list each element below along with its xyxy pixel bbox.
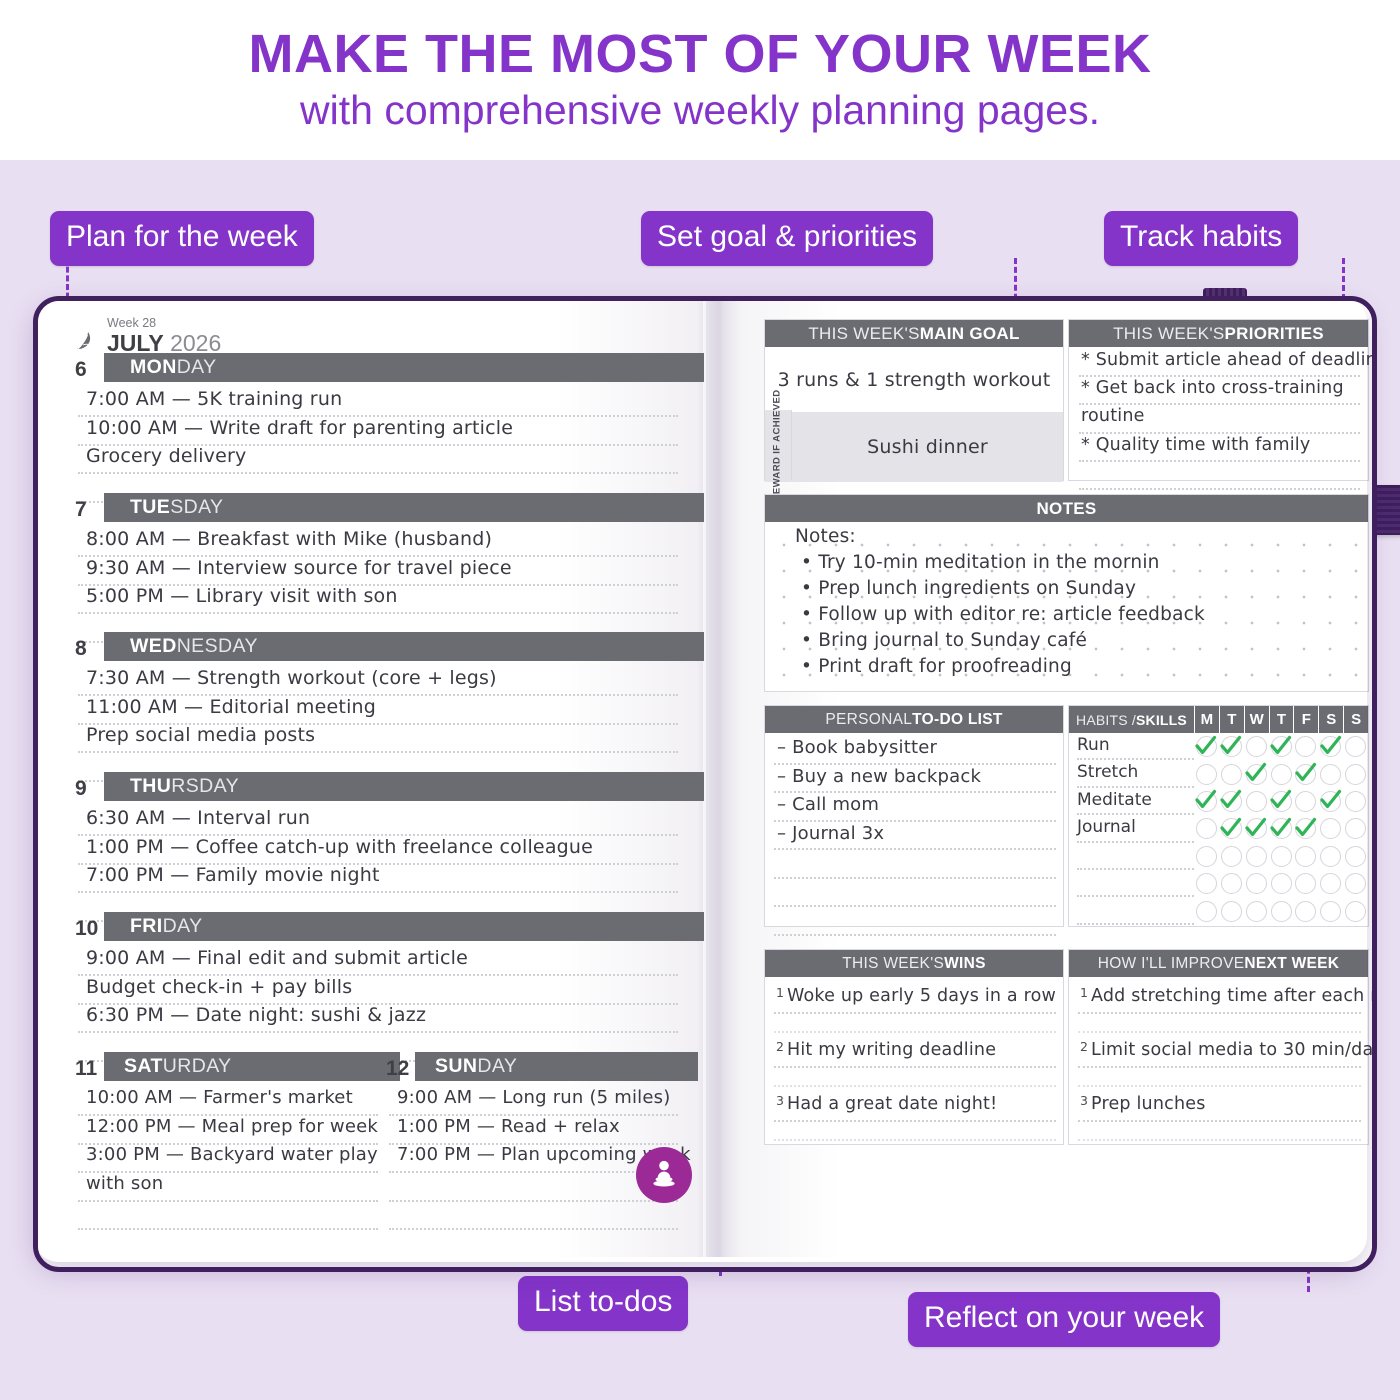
- priority-text: * Submit article ahead of deadline: [1081, 350, 1377, 370]
- day-entry: Prep social media posts: [86, 724, 315, 746]
- day-abbr: SUN: [435, 1055, 477, 1078]
- habit-circle-icon: [1295, 873, 1316, 894]
- habit-label: Meditate: [1077, 788, 1194, 816]
- habit-circle-icon: [1271, 764, 1292, 785]
- habit-circle-icon: [1246, 846, 1267, 867]
- habit-checkbox[interactable]: [1219, 901, 1244, 922]
- wins-header-light: THIS WEEK'S: [842, 955, 944, 973]
- todo-text: – Book babysitter: [777, 737, 937, 758]
- todo-line[interactable]: – Book babysitter: [774, 736, 1056, 765]
- habit-checkbox[interactable]: [1269, 846, 1294, 867]
- improve-panel: HOW I'LL IMPROVE NEXT WEEK 1Add stretchi…: [1068, 949, 1369, 1145]
- habit-checkbox[interactable]: [1293, 901, 1318, 922]
- habit-day-column-1: T: [1219, 706, 1244, 733]
- main-goal-header-light: THIS WEEK'S: [808, 324, 919, 344]
- habit-checkbox[interactable]: [1318, 764, 1343, 785]
- note-line: • Follow up with editor re: article feed…: [801, 604, 1205, 625]
- habit-checkbox[interactable]: [1293, 791, 1318, 812]
- priority-line[interactable]: * Get back into cross-training: [1079, 377, 1360, 405]
- month-label: JULY: [107, 330, 164, 356]
- priority-line[interactable]: * Submit article ahead of deadline: [1079, 349, 1360, 377]
- improve-text: Limit social media to 30 min/day: [1091, 1040, 1377, 1060]
- todo-line[interactable]: [774, 879, 1056, 908]
- habit-circle-icon: [1196, 818, 1217, 839]
- habit-circle-icon: [1320, 846, 1341, 867]
- priority-line[interactable]: * Quality time with family: [1079, 434, 1360, 462]
- wins-panel: THIS WEEK'S WINS 1Woke up early 5 days i…: [764, 949, 1064, 1145]
- notes-header-bold: NOTES: [1036, 499, 1096, 519]
- habit-day-column-5: S: [1318, 706, 1343, 733]
- habit-label-cell[interactable]: [1069, 897, 1194, 924]
- habit-checkbox[interactable]: [1269, 901, 1294, 922]
- habit-circle-icon: [1320, 901, 1341, 922]
- habit-checkbox[interactable]: [1219, 791, 1244, 812]
- win-item[interactable]: 2Hit my writing deadline: [774, 1033, 1056, 1087]
- habit-checkbox[interactable]: [1293, 873, 1318, 894]
- month-year-label: JULY 2026: [107, 332, 221, 355]
- habit-circle-icon: [1221, 846, 1242, 867]
- entry-line[interactable]: [78, 1200, 378, 1230]
- habit-checkbox[interactable]: [1194, 873, 1219, 894]
- habit-checkbox[interactable]: [1269, 873, 1294, 894]
- habit-circle-icon: [1295, 736, 1316, 757]
- win-line: [774, 1066, 1056, 1068]
- checkmark-icon: [1243, 815, 1269, 841]
- win-item[interactable]: 1Woke up early 5 days in a row: [774, 979, 1056, 1033]
- habit-checkbox[interactable]: [1244, 736, 1269, 757]
- improve-number: 1: [1080, 985, 1088, 1000]
- habit-checkbox[interactable]: [1343, 901, 1368, 922]
- improve-line: [1078, 1066, 1361, 1068]
- main-goal-value: 3 runs & 1 strength workout: [778, 369, 1051, 391]
- habit-circle-icon: [1271, 846, 1292, 867]
- improve-line-blank: [1078, 1139, 1361, 1141]
- win-item[interactable]: 3Had a great date night!: [774, 1087, 1056, 1141]
- win-number: 3: [776, 1093, 784, 1108]
- habit-row: Stretch: [1069, 760, 1368, 787]
- day-header-bar: THURSDAY: [104, 772, 704, 801]
- habit-circle-icon: [1345, 846, 1366, 867]
- priorities-panel: THIS WEEK'S PRIORITIES * Submit article …: [1068, 319, 1369, 481]
- day-header-bar: TUESDAY: [104, 493, 704, 522]
- habit-circle-icon: [1246, 901, 1267, 922]
- day-entry: 8:00 AM — Breakfast with Mike (husband): [86, 528, 492, 550]
- day-rest: NESDAY: [177, 635, 258, 658]
- habit-circle-icon: [1246, 791, 1267, 812]
- habit-checkbox[interactable]: [1318, 901, 1343, 922]
- habit-day-column-0: M: [1194, 706, 1219, 733]
- page-title: MAKE THE MOST OF YOUR WEEK: [248, 26, 1151, 83]
- meditation-badge-icon: [636, 1147, 692, 1203]
- todo-text: – Call mom: [777, 794, 879, 815]
- win-number: 1: [776, 985, 784, 1000]
- week-number-label: Week 28: [107, 317, 221, 330]
- habit-checkbox[interactable]: [1219, 736, 1244, 757]
- habits-header-row: HABITS / SKILLS MTWTFSS: [1069, 706, 1368, 733]
- habit-row: [1069, 870, 1368, 897]
- habit-checkbox[interactable]: [1293, 818, 1318, 839]
- habit-checkbox[interactable]: [1219, 818, 1244, 839]
- weekend-entry: 12:00 PM — Meal prep for week: [86, 1116, 378, 1137]
- habit-label-cell[interactable]: Meditate: [1069, 788, 1194, 815]
- wins-header: THIS WEEK'S WINS: [765, 950, 1063, 977]
- habit-circle-icon: [1295, 901, 1316, 922]
- habit-checkbox[interactable]: [1343, 873, 1368, 894]
- day-entry: 10:00 AM — Write draft for parenting art…: [86, 417, 513, 439]
- habit-checkbox[interactable]: [1318, 736, 1343, 757]
- checkmark-icon: [1268, 733, 1294, 759]
- entry-line[interactable]: [389, 1200, 678, 1230]
- habit-label-cell[interactable]: Run: [1069, 733, 1194, 760]
- habit-checkbox[interactable]: [1244, 901, 1269, 922]
- habit-circle-icon: [1196, 901, 1217, 922]
- habit-checkbox[interactable]: [1343, 791, 1368, 812]
- day-header-bar: MONDAY: [104, 353, 704, 382]
- note-line: • Prep lunch ingredients on Sunday: [801, 578, 1136, 599]
- habit-checkbox[interactable]: [1244, 791, 1269, 812]
- improve-item[interactable]: 3Prep lunches: [1078, 1087, 1361, 1141]
- win-line: [774, 1012, 1056, 1014]
- habit-checkbox[interactable]: [1318, 873, 1343, 894]
- checkmark-icon: [1218, 733, 1244, 759]
- habit-circle-icon: [1345, 736, 1366, 757]
- improve-number: 3: [1080, 1093, 1088, 1108]
- day-entry: 6:30 AM — Interval run: [86, 807, 310, 829]
- day-rest: SDAY: [170, 496, 223, 519]
- checkmark-icon: [1268, 815, 1294, 841]
- weekend-day-header-bar: SUNDAY: [415, 1052, 698, 1081]
- checkmark-icon: [1193, 787, 1219, 813]
- habit-checkbox[interactable]: [1293, 736, 1318, 757]
- habits-title-bold: SKILLS: [1136, 712, 1187, 728]
- day-entry: 5:00 PM — Library visit with son: [86, 585, 398, 607]
- habit-checkbox[interactable]: [1194, 846, 1219, 867]
- priority-text: routine: [1081, 406, 1145, 426]
- habit-circle-icon: [1345, 764, 1366, 785]
- habit-checkbox[interactable]: [1244, 873, 1269, 894]
- habit-checkbox[interactable]: [1194, 764, 1219, 785]
- day-abbr: THU: [130, 775, 171, 798]
- habit-label: Journal: [1077, 815, 1194, 843]
- day-rest: URDAY: [163, 1055, 232, 1078]
- note-line: Notes:: [795, 526, 856, 547]
- habit-checkbox[interactable]: [1293, 846, 1318, 867]
- habit-circle-icon: [1221, 873, 1242, 894]
- weekend-entry: 1:00 PM — Read + relax: [397, 1116, 620, 1137]
- priorities-header-light: THIS WEEK'S: [1113, 324, 1224, 344]
- wins-header-bold: WINS: [944, 955, 986, 973]
- checkmark-icon: [1218, 787, 1244, 813]
- day-number: 10: [75, 917, 98, 941]
- todo-text: – Buy a new backpack: [777, 766, 981, 787]
- callout-plan-for-the-week: Plan for the week: [50, 211, 314, 266]
- day-rest: RSDAY: [171, 775, 239, 798]
- habit-checkbox[interactable]: [1318, 791, 1343, 812]
- todo-list: – Book babysitter– Buy a new backpack– C…: [765, 736, 1065, 936]
- todo-line[interactable]: – Journal 3x: [774, 822, 1056, 851]
- day-entry: 11:00 AM — Editorial meeting: [86, 696, 376, 718]
- weekend-entry: 9:00 AM — Long run (5 miles): [397, 1087, 670, 1108]
- habit-label: Stretch: [1077, 760, 1194, 788]
- habit-checkbox[interactable]: [1194, 791, 1219, 812]
- habit-circle-icon: [1345, 873, 1366, 894]
- habit-checkbox[interactable]: [1269, 764, 1294, 785]
- day-number: 9: [75, 777, 87, 801]
- habit-circle-icon: [1320, 873, 1341, 894]
- note-line: • Bring journal to Sunday café: [801, 630, 1087, 651]
- weekend-day-number: 11: [75, 1057, 97, 1081]
- priority-line[interactable]: routine: [1079, 405, 1360, 433]
- priority-line[interactable]: [1079, 462, 1360, 490]
- notes-list: Notes:• Try 10-min meditation in the mor…: [765, 522, 1368, 691]
- habit-checkbox[interactable]: [1194, 901, 1219, 922]
- improve-item[interactable]: 1Add stretching time after each run: [1078, 979, 1361, 1033]
- todo-panel: PERSONAL TO-DO LIST – Book babysitter– B…: [764, 705, 1064, 927]
- habit-row: Journal: [1069, 815, 1368, 842]
- note-line: • Print draft for proofreading: [801, 656, 1072, 677]
- priorities-list: * Submit article ahead of deadline* Get …: [1069, 349, 1370, 490]
- day-rest: DAY: [177, 356, 217, 379]
- weekend-entry: with son: [86, 1173, 163, 1194]
- lotus-figure-icon: [647, 1158, 681, 1192]
- habit-checkbox[interactable]: [1194, 736, 1219, 757]
- win-text: Had a great date night!: [787, 1094, 997, 1114]
- weekend-day-number: 12: [386, 1057, 409, 1081]
- habit-day-column-3: T: [1269, 706, 1294, 733]
- habit-row: Run: [1069, 733, 1368, 760]
- checkmark-icon: [1193, 733, 1219, 759]
- weekend-day-header-bar: SATURDAY: [104, 1052, 400, 1081]
- callout-list-to-dos: List to-dos: [518, 1276, 688, 1331]
- checkmark-icon: [1243, 760, 1269, 786]
- todo-line[interactable]: – Call mom: [774, 793, 1056, 822]
- todo-header-light: PERSONAL: [825, 711, 912, 729]
- habit-row: Meditate: [1069, 788, 1368, 815]
- habit-checkbox[interactable]: [1269, 791, 1294, 812]
- note-line: • Try 10-min meditation in the mornin: [801, 552, 1160, 573]
- improve-header-light: HOW I'LL IMPROVE: [1098, 955, 1245, 973]
- habit-day-column-2: W: [1244, 706, 1269, 733]
- win-number: 2: [776, 1039, 784, 1054]
- habit-checkbox[interactable]: [1219, 846, 1244, 867]
- callout-track-habits: Track habits: [1104, 211, 1298, 266]
- habit-checkbox[interactable]: [1318, 818, 1343, 839]
- improve-item[interactable]: 2Limit social media to 30 min/day: [1078, 1033, 1361, 1087]
- habits-grid: RunStretchMeditateJournal: [1069, 733, 1368, 925]
- habit-circle-icon: [1320, 764, 1341, 785]
- day-abbr: SAT: [124, 1055, 163, 1078]
- win-text: Hit my writing deadline: [787, 1040, 996, 1060]
- day-entry: Grocery delivery: [86, 445, 246, 467]
- habit-circle-icon: [1345, 791, 1366, 812]
- habit-circle-icon: [1345, 901, 1366, 922]
- planner-spread: Week 28 JULY 2026 6MONDAY7:00 AM — 5K tr…: [33, 296, 1377, 1272]
- day-header-bar: WEDNESDAY: [104, 632, 704, 661]
- reward-rail: REWARD IF ACHIEVED: [765, 410, 792, 480]
- habit-circle-icon: [1295, 846, 1316, 867]
- day-entry: 9:00 AM — Final edit and submit article: [86, 947, 468, 969]
- improve-list: 1Add stretching time after each run2Limi…: [1069, 979, 1370, 1141]
- week-header: Week 28 JULY 2026: [74, 317, 221, 355]
- habit-checkbox[interactable]: [1269, 818, 1294, 839]
- habit-checkbox[interactable]: [1219, 873, 1244, 894]
- day-number: 7: [75, 498, 87, 522]
- habit-circle-icon: [1196, 873, 1217, 894]
- habit-checkbox[interactable]: [1343, 818, 1368, 839]
- habit-label: [1077, 843, 1194, 871]
- callout-reflect-on-your-week: Reflect on your week: [908, 1292, 1220, 1347]
- day-entry: 7:00 AM — 5K training run: [86, 388, 342, 410]
- day-entry: 7:00 PM — Family movie night: [86, 864, 380, 886]
- reward-label: REWARD IF ACHIEVED: [773, 389, 784, 501]
- checkmark-icon: [1293, 760, 1319, 786]
- habits-title: HABITS / SKILLS: [1069, 706, 1194, 733]
- improve-line: [1078, 1012, 1361, 1014]
- habit-label-cell[interactable]: Journal: [1069, 815, 1194, 842]
- habit-circle-icon: [1196, 764, 1217, 785]
- reward-value: Sushi dinner: [867, 436, 988, 458]
- habit-circle-icon: [1271, 901, 1292, 922]
- habit-row: [1069, 897, 1368, 924]
- win-text: Woke up early 5 days in a row: [787, 986, 1056, 1006]
- todo-text: – Journal 3x: [777, 823, 884, 844]
- habits-title-light: HABITS /: [1076, 712, 1136, 728]
- day-abbr: MON: [130, 356, 177, 379]
- day-rest: DAY: [163, 915, 203, 938]
- improve-header-bold: NEXT WEEK: [1244, 955, 1339, 973]
- main-goal-header-bold: MAIN GOAL: [920, 324, 1020, 344]
- improve-text: Add stretching time after each run: [1091, 986, 1377, 1006]
- habit-checkbox[interactable]: [1343, 736, 1368, 757]
- day-entry: Budget check-in + pay bills: [86, 976, 352, 998]
- planner-promo-page: MAKE THE MOST OF YOUR WEEK with comprehe…: [0, 0, 1400, 1400]
- todo-line[interactable]: – Buy a new backpack: [774, 765, 1056, 794]
- habit-label-cell[interactable]: Stretch: [1069, 760, 1194, 787]
- improve-line: [1078, 1120, 1361, 1122]
- priority-text: * Quality time with family: [1081, 435, 1310, 455]
- habit-row: [1069, 843, 1368, 870]
- habit-checkbox[interactable]: [1343, 846, 1368, 867]
- main-goal-value-cell[interactable]: 3 runs & 1 strength workout: [765, 347, 1063, 412]
- habit-day-column-6: S: [1343, 706, 1368, 733]
- checkmark-icon: [1293, 815, 1319, 841]
- priorities-header: THIS WEEK'S PRIORITIES: [1069, 320, 1368, 347]
- habit-label: [1077, 897, 1194, 925]
- habit-label: [1077, 870, 1194, 898]
- habit-circle-icon: [1345, 818, 1366, 839]
- year-label: 2026: [170, 330, 221, 356]
- habit-checkbox[interactable]: [1244, 818, 1269, 839]
- habits-panel: HABITS / SKILLS MTWTFSS RunStretchMedita…: [1068, 705, 1369, 927]
- day-abbr: TUE: [130, 496, 170, 519]
- improve-header: HOW I'LL IMPROVE NEXT WEEK: [1069, 950, 1368, 977]
- improve-text: Prep lunches: [1091, 1094, 1206, 1114]
- weekend-entry: 10:00 AM — Farmer's market: [86, 1087, 353, 1108]
- notes-header: NOTES: [765, 495, 1368, 522]
- habit-checkbox[interactable]: [1318, 846, 1343, 867]
- priorities-header-bold: PRIORITIES: [1225, 324, 1324, 344]
- todo-header: PERSONAL TO-DO LIST: [765, 706, 1063, 733]
- main-goal-panel: THIS WEEK'S MAIN GOAL 3 runs & 1 strengt…: [764, 319, 1064, 481]
- habit-label: Run: [1077, 733, 1194, 761]
- improve-number: 2: [1080, 1039, 1088, 1054]
- main-goal-header: THIS WEEK'S MAIN GOAL: [765, 320, 1063, 347]
- checkmark-icon: [1318, 733, 1344, 759]
- day-header-bar: FRIDAY: [104, 912, 704, 941]
- reward-value-cell[interactable]: Sushi dinner: [791, 412, 1064, 482]
- week-header-text: Week 28 JULY 2026: [107, 317, 221, 355]
- habit-checkbox[interactable]: [1219, 764, 1244, 785]
- checkmark-icon: [1318, 787, 1344, 813]
- notes-panel: NOTES Notes:• Try 10-min meditation in t…: [764, 494, 1369, 692]
- page-subtitle: with comprehensive weekly planning pages…: [300, 87, 1100, 134]
- habit-circle-icon: [1246, 736, 1267, 757]
- day-entry: 7:30 AM — Strength workout (core + legs): [86, 667, 497, 689]
- day-number: 6: [75, 358, 87, 382]
- habit-circle-icon: [1221, 901, 1242, 922]
- habit-label-cell[interactable]: [1069, 843, 1194, 870]
- habit-circle-icon: [1246, 873, 1267, 894]
- promo-header: MAKE THE MOST OF YOUR WEEK with comprehe…: [0, 0, 1400, 160]
- day-number: 8: [75, 637, 87, 661]
- todo-line[interactable]: [774, 907, 1056, 936]
- habit-circle-icon: [1196, 846, 1217, 867]
- day-abbr: WED: [130, 635, 177, 658]
- habit-checkbox[interactable]: [1343, 764, 1368, 785]
- callout-set-goal-priorities: Set goal & priorities: [641, 211, 933, 266]
- habit-circle-icon: [1320, 818, 1341, 839]
- habit-circle-icon: [1271, 873, 1292, 894]
- habit-label-cell[interactable]: [1069, 870, 1194, 897]
- brand-leaf-icon: [74, 329, 98, 353]
- habit-checkbox[interactable]: [1293, 764, 1318, 785]
- habit-checkbox[interactable]: [1244, 846, 1269, 867]
- habit-checkbox[interactable]: [1244, 764, 1269, 785]
- checkmark-icon: [1268, 787, 1294, 813]
- day-entry: 9:30 AM — Interview source for travel pi…: [86, 557, 512, 579]
- day-entry: 6:30 PM — Date night: sushi & jazz: [86, 1004, 426, 1026]
- weekend-entry: 3:00 PM — Backyard water play: [86, 1144, 378, 1165]
- todo-header-bold: TO-DO LIST: [912, 711, 1003, 729]
- day-rest: DAY: [477, 1055, 517, 1078]
- habit-day-column-4: F: [1293, 706, 1318, 733]
- win-line-blank: [774, 1139, 1056, 1141]
- habit-checkbox[interactable]: [1269, 736, 1294, 757]
- checkmark-icon: [1218, 815, 1244, 841]
- habit-checkbox[interactable]: [1194, 818, 1219, 839]
- win-line: [774, 1120, 1056, 1122]
- day-abbr: FRI: [130, 915, 163, 938]
- day-entry: 1:00 PM — Coffee catch-up with freelance…: [86, 836, 593, 858]
- priority-text: * Get back into cross-training: [1081, 378, 1344, 398]
- todo-line[interactable]: [774, 850, 1056, 879]
- wins-list: 1Woke up early 5 days in a row2Hit my wr…: [765, 979, 1065, 1141]
- habit-circle-icon: [1295, 791, 1316, 812]
- entry-line[interactable]: [389, 1172, 678, 1202]
- habit-circle-icon: [1221, 764, 1242, 785]
